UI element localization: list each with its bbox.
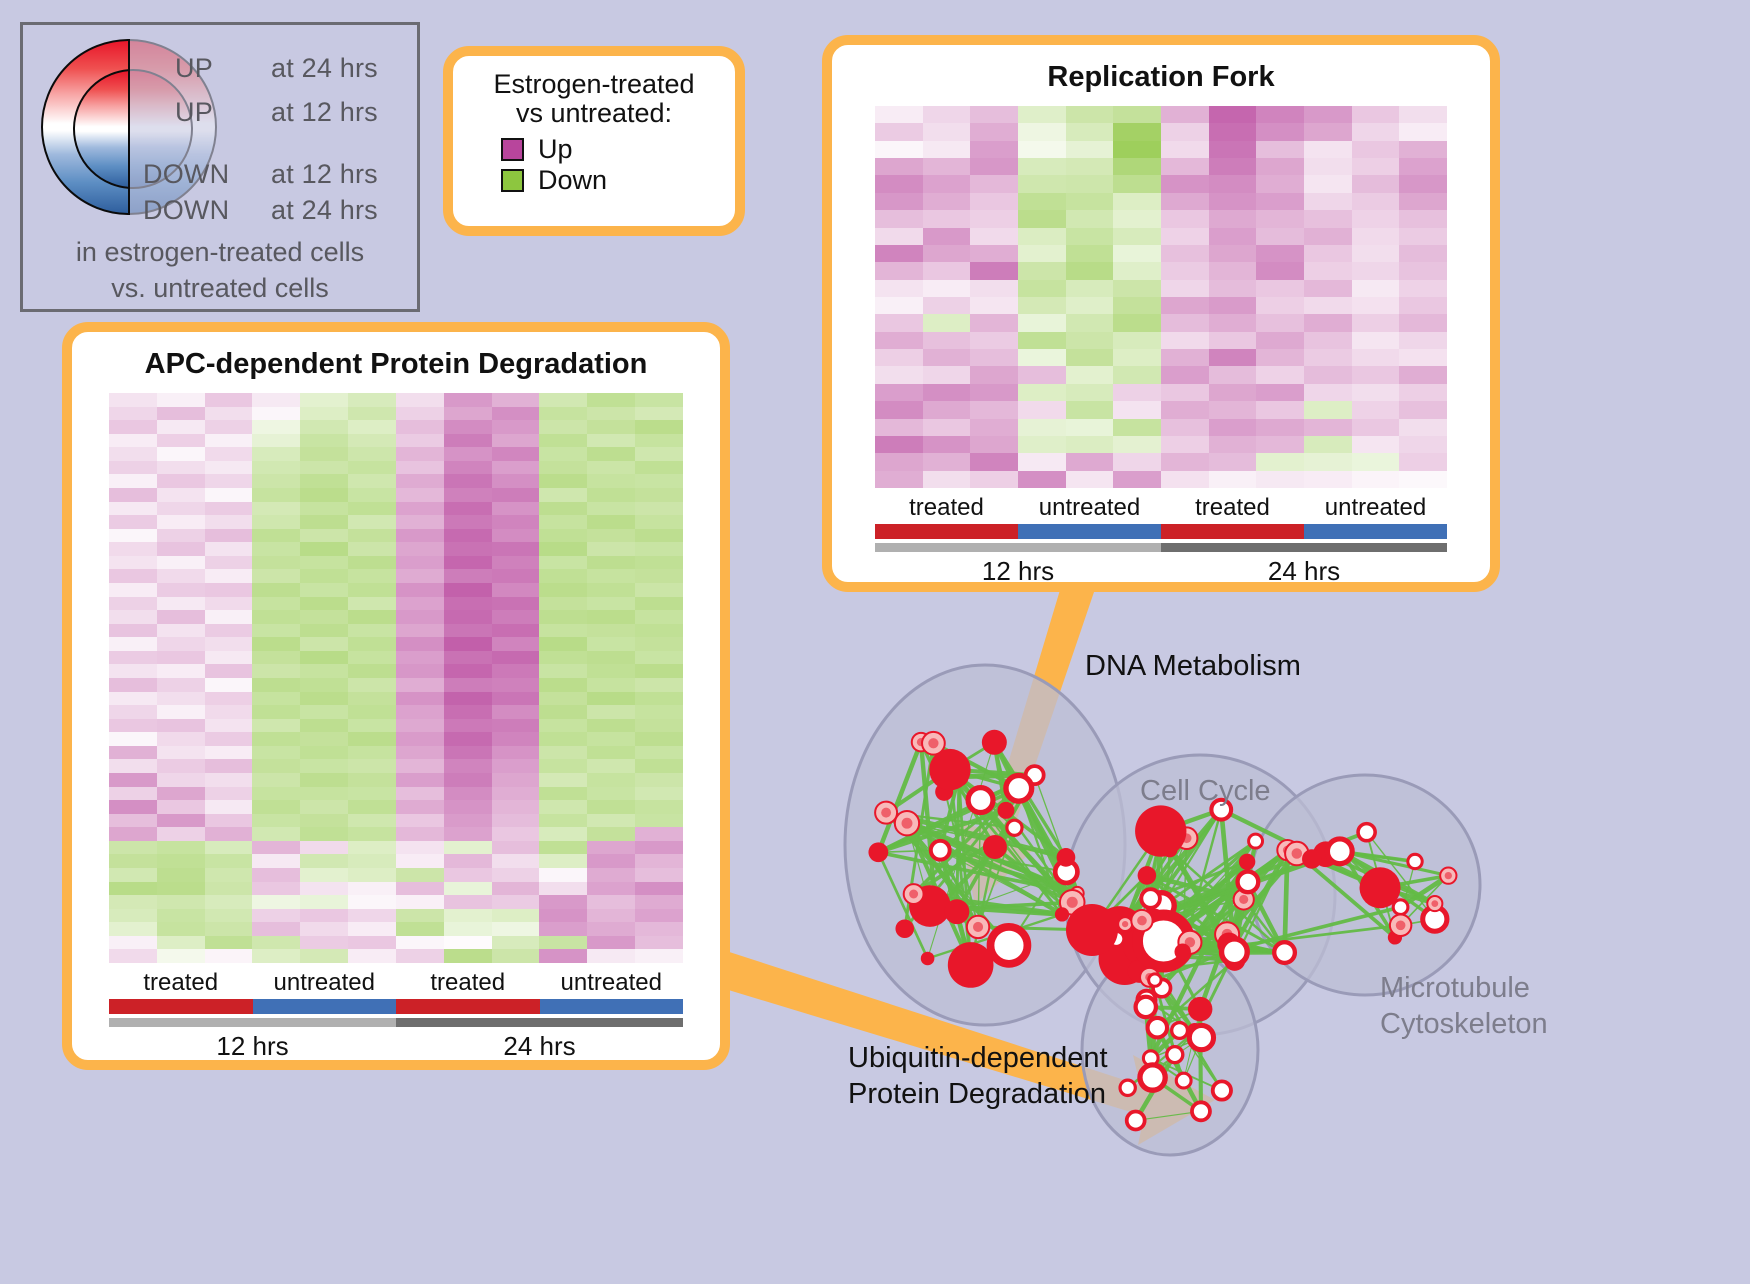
heatmap-cell [348, 556, 396, 570]
heatmap-cell [1161, 193, 1209, 210]
heatmap-cell [492, 542, 540, 556]
heatmap-cell [348, 529, 396, 543]
treatment-bar [253, 999, 397, 1014]
heatmap-cell [396, 719, 444, 733]
heatmap-cell [396, 393, 444, 407]
heatmap-cell [492, 827, 540, 841]
heatmap-cell [539, 692, 587, 706]
heatmap-cell [539, 909, 587, 923]
heatmap-cell [635, 502, 683, 516]
heatmap-cell [109, 651, 157, 665]
heatmap-cell [1304, 228, 1352, 245]
heatmap-cell [252, 882, 300, 896]
heatmap-cell [875, 332, 923, 349]
heatmap-cell [157, 692, 205, 706]
heatmap-cell [396, 420, 444, 434]
heatmap-cell [1399, 262, 1447, 279]
heatmap-cell [539, 407, 587, 421]
heatmap-cell [252, 515, 300, 529]
heatmap-cell [300, 800, 348, 814]
heatmap-cell [1161, 332, 1209, 349]
heatmap-cell [587, 678, 635, 692]
heatmap-cell [205, 868, 253, 882]
heatmap-cell [348, 895, 396, 909]
estrogen-key-panel: Estrogen-treated vs untreated: Up Down [443, 46, 745, 236]
heatmap-cell [1209, 175, 1257, 192]
replication-fork-treatment-bars [875, 524, 1447, 539]
heatmap-cell [539, 569, 587, 583]
heatmap-cell [1018, 193, 1066, 210]
heatmap-cell [348, 407, 396, 421]
apc-degradation-title: APC-dependent Protein Degradation [72, 348, 720, 381]
heatmap-cell [348, 515, 396, 529]
heatmap-cell [1352, 419, 1400, 436]
heatmap-cell [923, 123, 971, 140]
heatmap-cell [205, 787, 253, 801]
heatmap-cell [444, 651, 492, 665]
heatmap-cell [109, 814, 157, 828]
heatmap-cell [109, 488, 157, 502]
heatmap-cell [348, 692, 396, 706]
heatmap-cell [1256, 436, 1304, 453]
heatmap-cell [157, 759, 205, 773]
time-bar [396, 1018, 683, 1027]
heatmap-cell [875, 245, 923, 262]
heatmap-cell [396, 407, 444, 421]
heatmap-cell [1209, 349, 1257, 366]
heatmap-cell [635, 814, 683, 828]
heatmap-cell [923, 158, 971, 175]
heatmap-cell [923, 262, 971, 279]
heatmap-cell [587, 854, 635, 868]
network-node [1222, 939, 1248, 965]
heatmap-cell [300, 502, 348, 516]
apc-degradation-heatmap [109, 393, 683, 963]
network-node [982, 730, 1007, 755]
heatmap-cell [300, 814, 348, 828]
heatmap-cell [1018, 123, 1066, 140]
heatmap-cell [205, 583, 253, 597]
heatmap-cell [300, 624, 348, 638]
heatmap-cell [205, 502, 253, 516]
heatmap-cell [109, 678, 157, 692]
heatmap-cell [875, 471, 923, 488]
heatmap-cell [1399, 349, 1447, 366]
heatmap-cell [396, 746, 444, 760]
heatmap-cell [539, 434, 587, 448]
heatmap-cell [444, 474, 492, 488]
heatmap-cell [109, 637, 157, 651]
heatmap-cell [1018, 366, 1066, 383]
heatmap-cell [587, 909, 635, 923]
network-node [1176, 1073, 1191, 1088]
heatmap-cell [444, 827, 492, 841]
heatmap-cell [252, 556, 300, 570]
heatmap-cell [1256, 366, 1304, 383]
heatmap-cell [1209, 401, 1257, 418]
heatmap-cell [157, 949, 205, 963]
heatmap-cell [587, 651, 635, 665]
heatmap-cell [1304, 141, 1352, 158]
network-node [948, 942, 994, 988]
heatmap-cell [396, 461, 444, 475]
heatmap-cell [444, 461, 492, 475]
heatmap-cell [157, 651, 205, 665]
heatmap-cell [1018, 106, 1066, 123]
heatmap-cell [539, 488, 587, 502]
heatmap-cell [1066, 262, 1114, 279]
heatmap-cell [396, 651, 444, 665]
heatmap-cell [492, 909, 540, 923]
heatmap-cell [635, 651, 683, 665]
heatmap-cell [635, 569, 683, 583]
heatmap-cell [492, 800, 540, 814]
heatmap-cell [1161, 297, 1209, 314]
heatmap-cell [1399, 471, 1447, 488]
heatmap-cell [1161, 314, 1209, 331]
heatmap-cell [492, 841, 540, 855]
heatmap-cell [348, 800, 396, 814]
sample-label: untreated [1304, 494, 1447, 522]
heatmap-cell [300, 610, 348, 624]
heatmap-cell [396, 678, 444, 692]
heatmap-cell [1209, 106, 1257, 123]
heatmap-cell [1304, 349, 1352, 366]
heatmap-cell [205, 895, 253, 909]
heatmap-cell [1161, 366, 1209, 383]
heatmap-cell [923, 297, 971, 314]
heatmap-cell [587, 624, 635, 638]
heatmap-cell [205, 800, 253, 814]
heatmap-cell [1352, 349, 1400, 366]
heatmap-cell [300, 692, 348, 706]
apc-treatment-bars [109, 999, 683, 1014]
heatmap-cell [587, 407, 635, 421]
heatmap-cell [396, 827, 444, 841]
heatmap-cell [587, 515, 635, 529]
heatmap-cell [252, 583, 300, 597]
heatmap-cell [1256, 158, 1304, 175]
heatmap-cell [348, 678, 396, 692]
heatmap-cell [539, 759, 587, 773]
heatmap-cell [1352, 141, 1400, 158]
heatmap-cell [252, 664, 300, 678]
heatmap-cell [635, 759, 683, 773]
heatmap-cell [252, 746, 300, 760]
heatmap-cell [1304, 419, 1352, 436]
heatmap-cell [157, 461, 205, 475]
network-node-core [1239, 895, 1248, 904]
heatmap-cell [492, 868, 540, 882]
heatmap-cell [923, 366, 971, 383]
heatmap-cell [492, 583, 540, 597]
heatmap-cell [300, 542, 348, 556]
heatmap-cell [109, 569, 157, 583]
sample-label: treated [109, 969, 253, 997]
heatmap-cell [300, 719, 348, 733]
heatmap-cell [109, 407, 157, 421]
heatmap-cell [300, 868, 348, 882]
heatmap-cell [300, 474, 348, 488]
time-label: 12 hrs [875, 556, 1161, 587]
heatmap-cell [109, 746, 157, 760]
network-node [1360, 867, 1401, 908]
heatmap-cell [157, 841, 205, 855]
heatmap-cell [444, 854, 492, 868]
heatmap-cell [539, 393, 587, 407]
heatmap-cell [1113, 123, 1161, 140]
treatment-bar [109, 999, 253, 1014]
heatmap-cell [1209, 193, 1257, 210]
heatmap-cell [539, 949, 587, 963]
heatmap-cell [252, 922, 300, 936]
heatmap-cell [875, 366, 923, 383]
heatmap-cell [539, 922, 587, 936]
heatmap-cell [1161, 106, 1209, 123]
heatmap-cell [1161, 419, 1209, 436]
heatmap-cell [923, 471, 971, 488]
heatmap-cell [252, 692, 300, 706]
heatmap-cell [1209, 158, 1257, 175]
heatmap-cell [205, 407, 253, 421]
heatmap-cell [587, 556, 635, 570]
heatmap-cell [444, 882, 492, 896]
heatmap-cell [396, 854, 444, 868]
heatmap-cell [587, 773, 635, 787]
network-node [1057, 848, 1076, 867]
heatmap-cell [539, 502, 587, 516]
heatmap-cell [157, 569, 205, 583]
network-node [1007, 820, 1022, 835]
heatmap-cell [875, 262, 923, 279]
heatmap-cell [1352, 158, 1400, 175]
heatmap-cell [300, 461, 348, 475]
heatmap-cell [157, 610, 205, 624]
heatmap-cell [1352, 228, 1400, 245]
legend-down-12-label: DOWN [143, 159, 229, 190]
network-node [968, 788, 993, 813]
pathway-network: DNA Metabolism Cell Cycle Microtubule Cy… [780, 600, 1750, 1279]
heatmap-cell [252, 719, 300, 733]
heatmap-cell [1209, 384, 1257, 401]
heatmap-cell [396, 692, 444, 706]
heatmap-cell [492, 461, 540, 475]
heatmap-cell [205, 814, 253, 828]
network-node [1167, 1047, 1183, 1063]
heatmap-cell [157, 732, 205, 746]
network-node [1172, 1023, 1188, 1039]
up-color-swatch [501, 138, 524, 161]
heatmap-cell [300, 922, 348, 936]
heatmap-cell [300, 949, 348, 963]
heatmap-cell [587, 637, 635, 651]
heatmap-cell [923, 106, 971, 123]
heatmap-cell [970, 419, 1018, 436]
up-label: Up [538, 134, 573, 165]
heatmap-cell [348, 474, 396, 488]
heatmap-cell [205, 719, 253, 733]
heatmap-cell [1018, 228, 1066, 245]
heatmap-cell [1399, 366, 1447, 383]
heatmap-cell [587, 787, 635, 801]
heatmap-cell [635, 868, 683, 882]
heatmap-cell [157, 583, 205, 597]
legend-caption-line1: in estrogen-treated cells [23, 237, 417, 268]
heatmap-cell [875, 210, 923, 227]
heatmap-cell [205, 474, 253, 488]
network-node [1006, 775, 1032, 801]
heatmap-cell [396, 895, 444, 909]
heatmap-cell [875, 436, 923, 453]
heatmap-cell [1018, 453, 1066, 470]
heatmap-cell [539, 637, 587, 651]
heatmap-cell [157, 502, 205, 516]
heatmap-cell [252, 393, 300, 407]
heatmap-cell [252, 732, 300, 746]
heatmap-cell [348, 719, 396, 733]
heatmap-cell [970, 366, 1018, 383]
heatmap-cell [444, 583, 492, 597]
heatmap-cell [1209, 262, 1257, 279]
treatment-bar [875, 524, 1018, 539]
heatmap-cell [300, 664, 348, 678]
heatmap-cell [348, 773, 396, 787]
heatmap-cell [1066, 193, 1114, 210]
replication-fork-time-bars [875, 543, 1447, 552]
heatmap-cell [1256, 349, 1304, 366]
heatmap-cell [1399, 280, 1447, 297]
heatmap-cell [1113, 280, 1161, 297]
heatmap-cell [300, 637, 348, 651]
heatmap-cell [444, 597, 492, 611]
down-label: Down [538, 165, 607, 196]
replication-fork-panel: Replication Fork treateduntreatedtreated… [822, 35, 1500, 592]
network-node [1358, 824, 1375, 841]
network-node [1327, 839, 1352, 864]
heatmap-cell [492, 746, 540, 760]
heatmap-cell [635, 556, 683, 570]
heatmap-cell [1352, 297, 1400, 314]
heatmap-cell [587, 841, 635, 855]
heatmap-cell [1256, 314, 1304, 331]
heatmap-cell [109, 936, 157, 950]
heatmap-cell [970, 471, 1018, 488]
heatmap-cell [1113, 210, 1161, 227]
heatmap-cell [587, 529, 635, 543]
heatmap-cell [157, 420, 205, 434]
heatmap-cell [492, 814, 540, 828]
heatmap-cell [635, 841, 683, 855]
apc-sample-labels: treateduntreatedtreateduntreated [109, 969, 683, 997]
heatmap-cell [109, 787, 157, 801]
apc-time-labels: 12 hrs24 hrs [109, 1031, 683, 1062]
heatmap-cell [396, 610, 444, 624]
heatmap-cell [300, 787, 348, 801]
heatmap-cell [252, 610, 300, 624]
network-node-core [973, 922, 983, 932]
heatmap-cell [492, 882, 540, 896]
heatmap-cell [1018, 141, 1066, 158]
heatmap-cell [587, 949, 635, 963]
heatmap-cell [109, 882, 157, 896]
heatmap-cell [1113, 349, 1161, 366]
heatmap-cell [205, 664, 253, 678]
heatmap-cell [492, 787, 540, 801]
heatmap-cell [396, 732, 444, 746]
heatmap-cell [1352, 262, 1400, 279]
heatmap-cell [157, 827, 205, 841]
heatmap-cell [109, 447, 157, 461]
cluster-label-dna-metabolism: DNA Metabolism [1085, 650, 1301, 683]
heatmap-cell [348, 949, 396, 963]
network-node [1066, 904, 1118, 956]
heatmap-cell [635, 393, 683, 407]
heatmap-cell [109, 841, 157, 855]
heatmap-cell [252, 909, 300, 923]
heatmap-cell [1256, 210, 1304, 227]
heatmap-cell [1066, 453, 1114, 470]
estrogen-key-title-1: Estrogen-treated [453, 70, 735, 99]
cluster-label-ubiquitin-1: Ubiquitin-dependent [848, 1042, 1108, 1075]
heatmap-cell [1161, 228, 1209, 245]
heatmap-cell [1066, 228, 1114, 245]
heatmap-cell [300, 393, 348, 407]
heatmap-cell [205, 529, 253, 543]
heatmap-cell [444, 868, 492, 882]
heatmap-cell [157, 895, 205, 909]
network-node [997, 802, 1014, 819]
heatmap-cell [396, 515, 444, 529]
heatmap-cell [1209, 123, 1257, 140]
heatmap-cell [1304, 193, 1352, 210]
heatmap-cell [635, 637, 683, 651]
heatmap-cell [635, 773, 683, 787]
heatmap-cell [396, 936, 444, 950]
heatmap-cell [1209, 366, 1257, 383]
heatmap-cell [1352, 193, 1400, 210]
heatmap-cell [1352, 453, 1400, 470]
heatmap-cell [1113, 158, 1161, 175]
heatmap-cell [635, 854, 683, 868]
network-node [1274, 942, 1295, 963]
heatmap-cell [587, 922, 635, 936]
heatmap-cell [109, 502, 157, 516]
heatmap-cell [300, 556, 348, 570]
network-node [1302, 849, 1321, 868]
heatmap-cell [252, 773, 300, 787]
heatmap-cell [635, 420, 683, 434]
heatmap-cell [300, 909, 348, 923]
heatmap-cell [444, 949, 492, 963]
heatmap-cell [1018, 297, 1066, 314]
heatmap-cell [1209, 419, 1257, 436]
heatmap-cell [923, 401, 971, 418]
heatmap-cell [348, 664, 396, 678]
heatmap-cell [1113, 175, 1161, 192]
network-node [1238, 872, 1259, 893]
heatmap-cell [396, 556, 444, 570]
heatmap-cell [109, 583, 157, 597]
heatmap-cell [492, 637, 540, 651]
heatmap-cell [539, 854, 587, 868]
heatmap-cell [1256, 297, 1304, 314]
network-node [1149, 974, 1161, 986]
heatmap-cell [348, 746, 396, 760]
heatmap-cell [1018, 401, 1066, 418]
heatmap-cell [1161, 453, 1209, 470]
heatmap-cell [970, 349, 1018, 366]
heatmap-cell [157, 637, 205, 651]
